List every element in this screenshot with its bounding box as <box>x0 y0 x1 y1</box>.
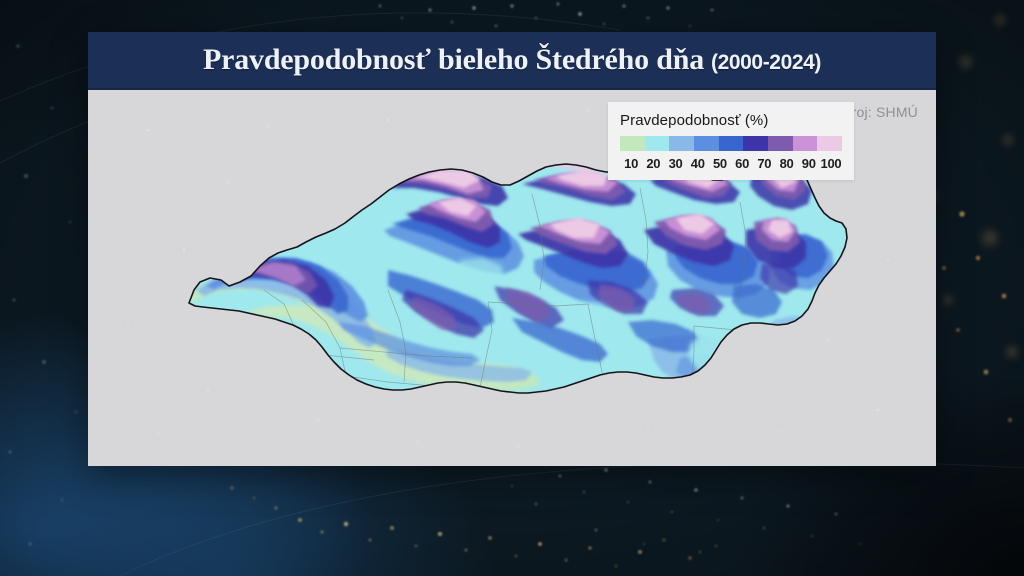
legend-swatch-9 <box>817 136 842 151</box>
legend-tick-60: 60 <box>731 156 753 171</box>
legend-swatch-3 <box>669 136 694 151</box>
legend-tick-40: 40 <box>687 156 709 171</box>
legend-tick-50: 50 <box>709 156 731 171</box>
legend-swatch-5 <box>719 136 744 151</box>
legend-tick-100: 100 <box>820 156 842 171</box>
legend-tick-90: 90 <box>798 156 820 171</box>
page-title-years: (2000-2024) <box>711 51 821 74</box>
legend-swatch-1 <box>620 136 645 151</box>
legend-tick-80: 80 <box>775 156 797 171</box>
map-probability-bands <box>178 145 868 415</box>
legend-swatch-6 <box>743 136 768 151</box>
legend-tick-70: 70 <box>753 156 775 171</box>
legend-panel: Pravdepodobnosť (%) 10203040506070809010… <box>608 102 854 180</box>
legend-swatch-2 <box>645 136 670 151</box>
legend-color-bar <box>620 136 842 151</box>
legend-tick-10: 10 <box>620 156 642 171</box>
legend-swatch-7 <box>768 136 793 151</box>
card-header: Pravdepodobnosť bieleho Štedrého dňa(200… <box>88 32 936 90</box>
page-title-main: Pravdepodobnosť bieleho Štedrého dňa <box>203 43 704 76</box>
legend-tick-30: 30 <box>664 156 686 171</box>
legend-tick-20: 20 <box>642 156 664 171</box>
page-title: Pravdepodobnosť bieleho Štedrého dňa(200… <box>203 43 821 77</box>
map-area[interactable]: Zdroj: SHMÚ <box>88 90 936 466</box>
legend-title: Pravdepodobnosť (%) <box>620 112 842 129</box>
legend-swatch-8 <box>793 136 818 151</box>
legend-swatch-4 <box>694 136 719 151</box>
legend-tick-labels: 102030405060708090100 <box>620 156 842 171</box>
infographic-card: Pravdepodobnosť bieleho Štedrého dňa(200… <box>88 32 936 466</box>
